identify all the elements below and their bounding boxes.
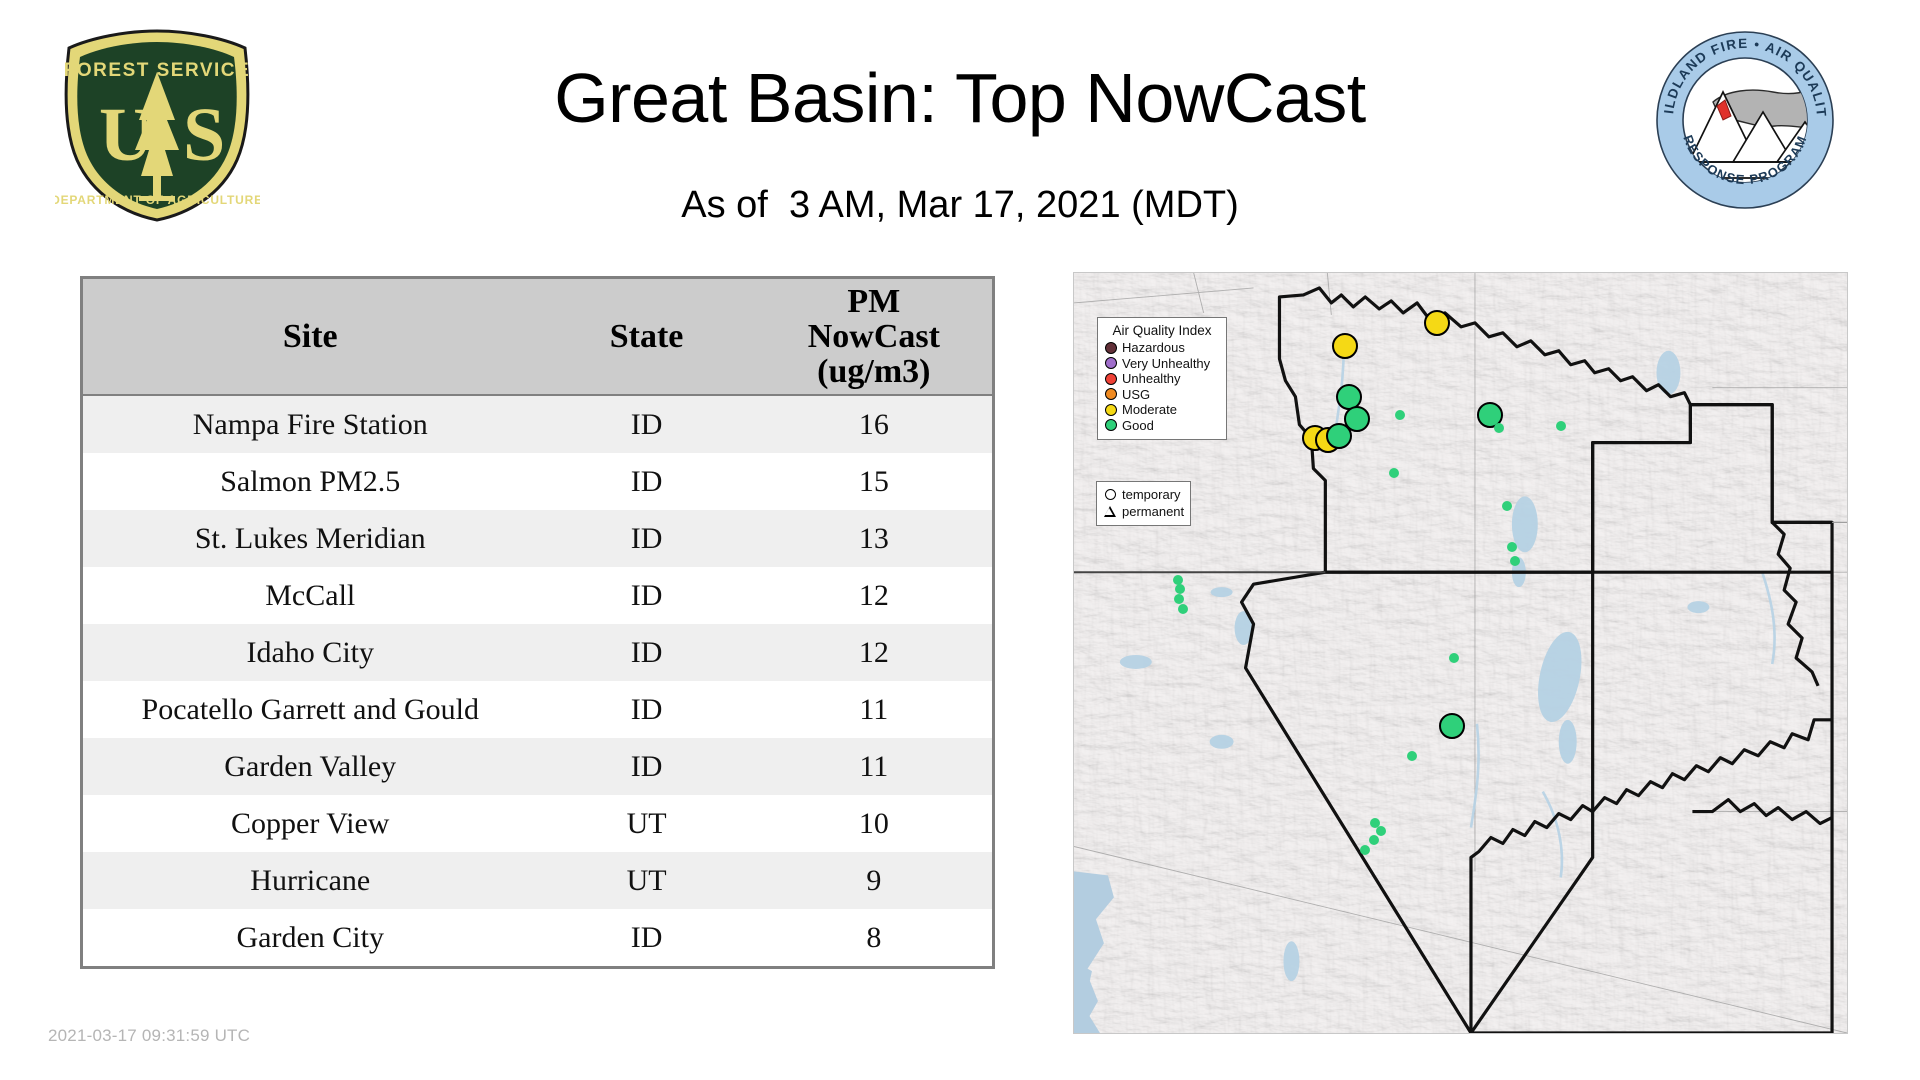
cell-state: ID: [538, 567, 756, 624]
monitor-reno-d[interactable]: [1178, 604, 1188, 614]
cell-pm: 9: [756, 852, 992, 909]
triangle-icon: [1103, 504, 1118, 519]
legend-row-temporary: temporary: [1103, 486, 1184, 503]
cell-site: Hurricane: [83, 852, 538, 909]
monitor-meridian-alt[interactable]: [1326, 423, 1352, 449]
aqi-legend-row: Good: [1105, 418, 1219, 434]
cell-site: Pocatello Garrett and Gould: [83, 681, 538, 738]
table-row: HurricaneUT9: [83, 852, 992, 909]
aqi-swatch-icon: [1105, 373, 1117, 385]
legend-label-permanent: permanent: [1122, 505, 1184, 518]
monitor-ut-south-a[interactable]: [1407, 751, 1417, 761]
cell-pm: 12: [756, 624, 992, 681]
cell-site: Nampa Fire Station: [83, 395, 538, 453]
cell-pm: 11: [756, 681, 992, 738]
aqi-swatch-icon: [1105, 419, 1117, 431]
legend-row-permanent: permanent: [1103, 503, 1184, 520]
monitor-hurricane-c[interactable]: [1369, 835, 1379, 845]
page-subtitle: As of 3 AM, Mar 17, 2021 (MDT): [0, 184, 1920, 227]
cell-state: ID: [538, 453, 756, 510]
cell-state: ID: [538, 510, 756, 567]
aqi-legend-row: Unhealthy: [1105, 371, 1219, 387]
table-header-row: Site State PM NowCast (ug/m3): [83, 279, 992, 395]
cell-state: UT: [538, 795, 756, 852]
table-body: Nampa Fire StationID16Salmon PM2.5ID15St…: [83, 395, 992, 966]
cell-site: Idaho City: [83, 624, 538, 681]
aqi-legend-row: Very Unhealthy: [1105, 356, 1219, 372]
cell-pm: 12: [756, 567, 992, 624]
cell-site: Salmon PM2.5: [83, 453, 538, 510]
legend-label-temporary: temporary: [1122, 488, 1181, 501]
aqi-swatch-icon: [1105, 388, 1117, 400]
monitor-se-idaho-a[interactable]: [1494, 423, 1504, 433]
cell-state: ID: [538, 395, 756, 453]
cell-pm: 8: [756, 909, 992, 966]
table-row: McCallID12: [83, 567, 992, 624]
cell-state: ID: [538, 738, 756, 795]
pm-header-line-3: (ug/m3): [756, 354, 992, 389]
monitor-ut-central[interactable]: [1449, 653, 1459, 663]
table-row: Pocatello Garrett and GouldID11: [83, 681, 992, 738]
table-row: Copper ViewUT10: [83, 795, 992, 852]
monitor-reno-b[interactable]: [1175, 584, 1185, 594]
cell-state: ID: [538, 624, 756, 681]
cell-site: St. Lukes Meridian: [83, 510, 538, 567]
aqi-legend-row: Moderate: [1105, 402, 1219, 418]
column-header-site: Site: [83, 279, 538, 395]
pm-header-line-1: PM: [756, 284, 992, 319]
monitor-hurricane-d[interactable]: [1360, 845, 1370, 855]
monitor-copper-view[interactable]: [1439, 713, 1465, 739]
aqi-swatch-icon: [1105, 342, 1117, 354]
slide-canvas: FOREST SERVICE U S DEPARTMENT OF AGRICUL…: [0, 0, 1920, 1080]
monitor-slc-a[interactable]: [1507, 542, 1517, 552]
aqi-legend-row: USG: [1105, 387, 1219, 403]
cell-site: Garden City: [83, 909, 538, 966]
aqi-swatch-icon: [1105, 357, 1117, 369]
aqi-legend-label: Good: [1122, 419, 1154, 432]
cell-pm: 16: [756, 395, 992, 453]
table-row: St. Lukes MeridianID13: [83, 510, 992, 567]
column-header-pm-nowcast: PM NowCast (ug/m3): [756, 279, 992, 395]
top-nowcast-table: Site State PM NowCast (ug/m3) Nampa Fire…: [80, 276, 995, 969]
monitor-hurricane-b[interactable]: [1376, 826, 1386, 836]
cell-state: UT: [538, 852, 756, 909]
cell-state: ID: [538, 681, 756, 738]
table-row: Garden CityID8: [83, 909, 992, 966]
cell-site: McCall: [83, 567, 538, 624]
aqi-legend-label: Unhealthy: [1122, 372, 1181, 385]
cell-pm: 13: [756, 510, 992, 567]
cell-pm: 10: [756, 795, 992, 852]
aqi-legend-label: Moderate: [1122, 403, 1177, 416]
cell-site: Garden Valley: [83, 738, 538, 795]
table-row: Nampa Fire StationID16: [83, 395, 992, 453]
aqi-legend-title: Air Quality Index: [1105, 323, 1219, 338]
aqi-legend-label: Very Unhealthy: [1122, 357, 1210, 370]
generated-timestamp: 2021-03-17 09:31:59 UTC: [48, 1026, 250, 1046]
pm-header-line-2: NowCast: [756, 319, 992, 354]
monitor-mccall[interactable]: [1332, 333, 1358, 359]
monitor-garden-city[interactable]: [1395, 410, 1405, 420]
air-quality-index-legend: Air Quality Index HazardousVery Unhealth…: [1097, 317, 1227, 440]
monitor-ne-nevada[interactable]: [1389, 468, 1399, 478]
great-basin-monitor-map[interactable]: Air Quality Index HazardousVery Unhealth…: [1073, 272, 1848, 1034]
cell-pm: 15: [756, 453, 992, 510]
table-row: Salmon PM2.5ID15: [83, 453, 992, 510]
aqi-legend-label: USG: [1122, 388, 1150, 401]
page-title: Great Basin: Top NowCast: [0, 58, 1920, 138]
table-row: Garden ValleyID11: [83, 738, 992, 795]
aqi-legend-row: Hazardous: [1105, 340, 1219, 356]
cell-state: ID: [538, 909, 756, 966]
monitor-salmon[interactable]: [1424, 310, 1450, 336]
monitor-reno-c[interactable]: [1174, 594, 1184, 604]
monitor-se-idaho-b[interactable]: [1556, 421, 1566, 431]
cell-pm: 11: [756, 738, 992, 795]
monitor-type-legend: temporary permanent: [1096, 481, 1191, 526]
cell-site: Copper View: [83, 795, 538, 852]
monitor-slc-b[interactable]: [1510, 556, 1520, 566]
aqi-legend-label: Hazardous: [1122, 341, 1185, 354]
column-header-state: State: [538, 279, 756, 395]
circle-icon: [1103, 487, 1118, 502]
aqi-swatch-icon: [1105, 404, 1117, 416]
table-row: Idaho CityID12: [83, 624, 992, 681]
monitor-n-utah-a[interactable]: [1502, 501, 1512, 511]
